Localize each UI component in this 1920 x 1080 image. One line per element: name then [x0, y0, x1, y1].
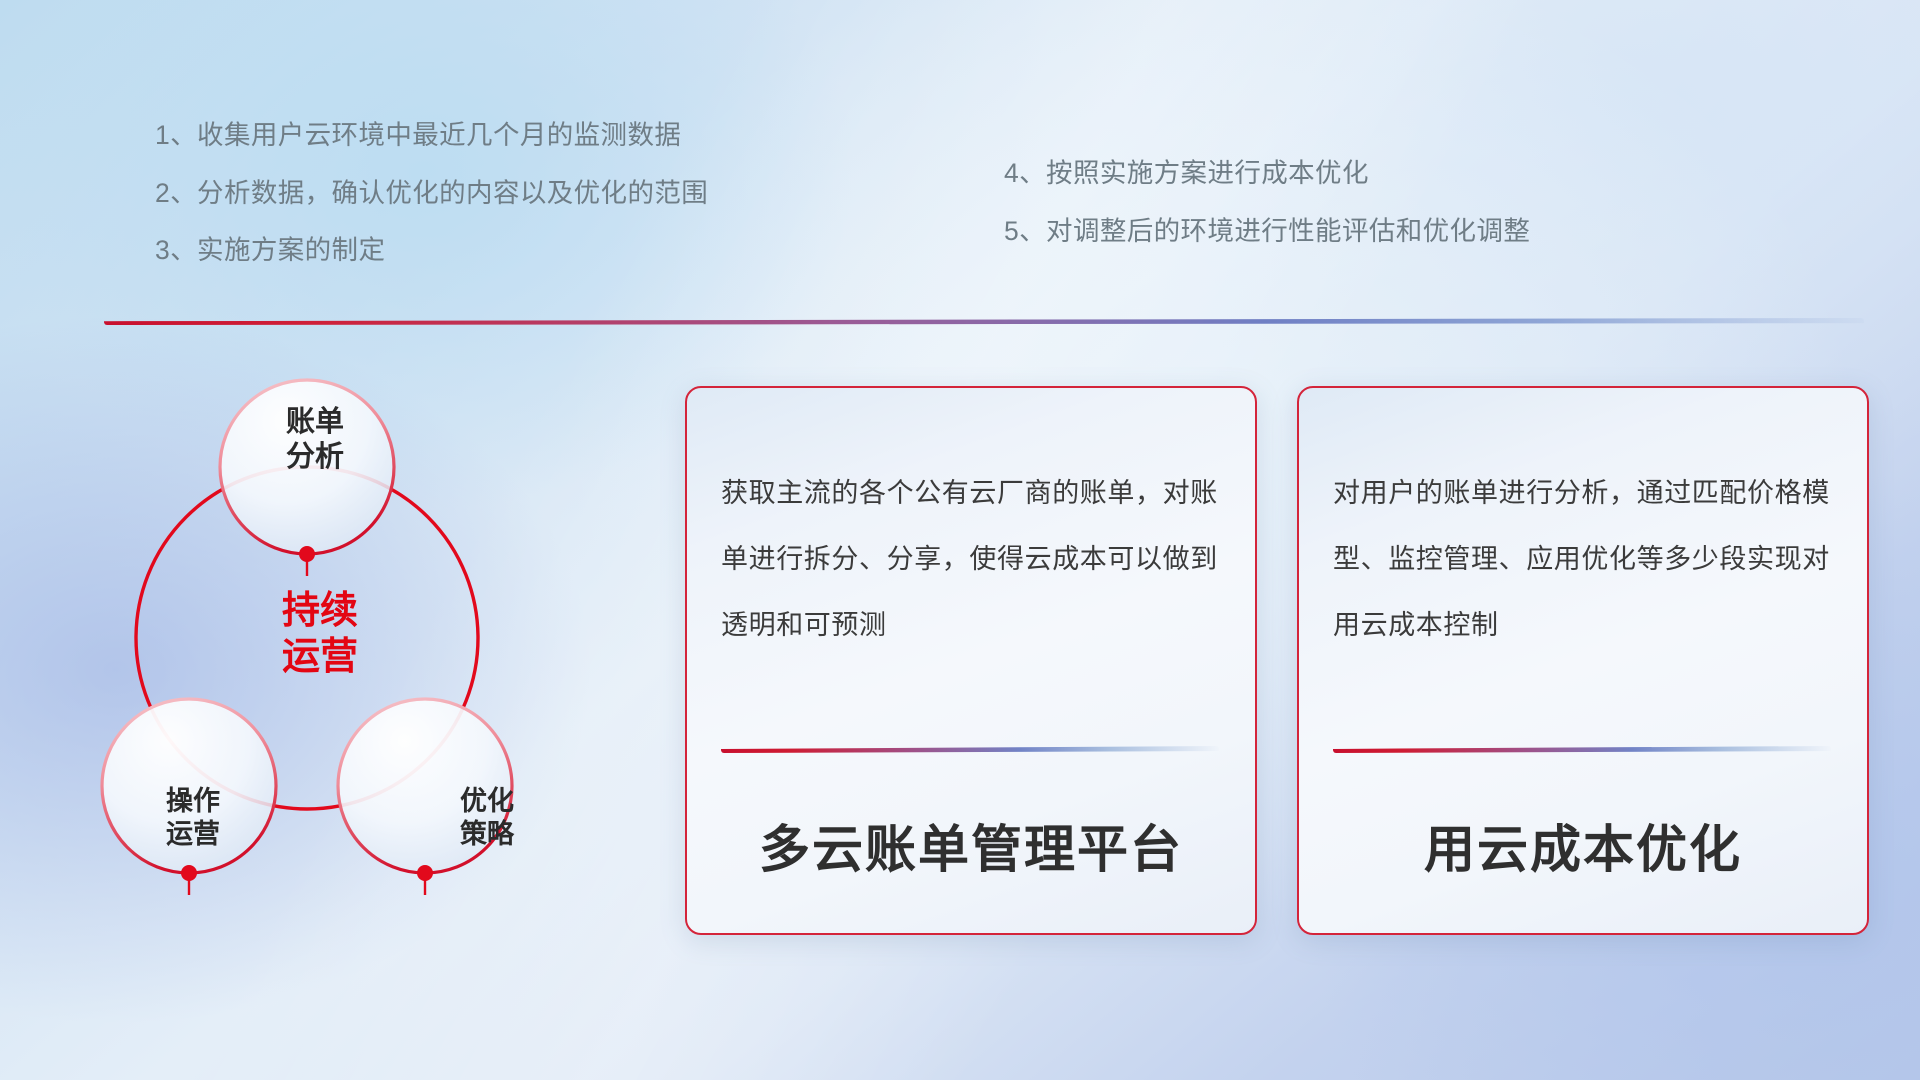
venn-label-line: 运营 — [118, 818, 268, 851]
card-title: 多云账单管理平台 — [687, 808, 1255, 882]
header-divider-rule — [104, 318, 1864, 325]
bullet-item: 2、分析数据，确认优化的内容以及优化的范围 — [155, 180, 708, 207]
venn-label-line: 操作 — [118, 785, 268, 818]
card-title: 用云成本优化 — [1299, 808, 1867, 882]
bullet-item: 5、对调整后的环境进行性能评估和优化调整 — [1004, 218, 1530, 245]
venn-node-dot-top — [299, 546, 315, 562]
venn-label-operation: 操作 运营 — [118, 785, 268, 851]
card-body-text: 获取主流的各个公有云厂商的账单，对账单进行拆分、分享，使得云成本可以做到透明和可… — [721, 460, 1227, 658]
card-body-text: 对用户的账单进行分析，通过匹配价格模型、监控管理、应用优化等多少段实现对用云成本… — [1333, 460, 1839, 658]
card-divider-rule — [1333, 746, 1831, 753]
bullet-item: 3、实施方案的制定 — [155, 237, 708, 264]
feature-card-cloud-cost-optimization[interactable]: 对用户的账单进行分析，通过匹配价格模型、监控管理、应用优化等多少段实现对用云成本… — [1297, 386, 1869, 935]
venn-label-line: 策略 — [412, 818, 562, 851]
venn-label-bill-analysis: 账单 分析 — [230, 405, 400, 476]
venn-node-dot-bottom-left — [181, 865, 197, 881]
card-divider-rule — [721, 746, 1219, 753]
feature-card-multicloud-billing[interactable]: 获取主流的各个公有云厂商的账单，对账单进行拆分、分享，使得云成本可以做到透明和可… — [685, 386, 1257, 935]
bullet-item: 1、收集用户云环境中最近几个月的监测数据 — [155, 122, 708, 149]
venn-node-dot-bottom-right — [417, 865, 433, 881]
venn-label-line: 账单 — [230, 405, 400, 440]
slide-canvas: 1、收集用户云环境中最近几个月的监测数据 2、分析数据，确认优化的内容以及优化的… — [0, 0, 1920, 1080]
venn-label-line: 优化 — [412, 785, 562, 818]
venn-label-line: 分析 — [230, 440, 400, 475]
bullet-list-right: 4、按照实施方案进行成本优化 5、对调整后的环境进行性能评估和优化调整 — [1004, 160, 1530, 275]
venn-label-optimization-strategy: 优化 策略 — [412, 785, 562, 851]
bullet-item: 4、按照实施方案进行成本优化 — [1004, 160, 1530, 187]
bullet-list-left: 1、收集用户云环境中最近几个月的监测数据 2、分析数据，确认优化的内容以及优化的… — [155, 122, 708, 295]
venn-label-line: 持续 — [240, 588, 400, 634]
venn-label-line: 运营 — [240, 634, 400, 680]
venn-label-continuous-operation: 持续 运营 — [240, 588, 400, 681]
